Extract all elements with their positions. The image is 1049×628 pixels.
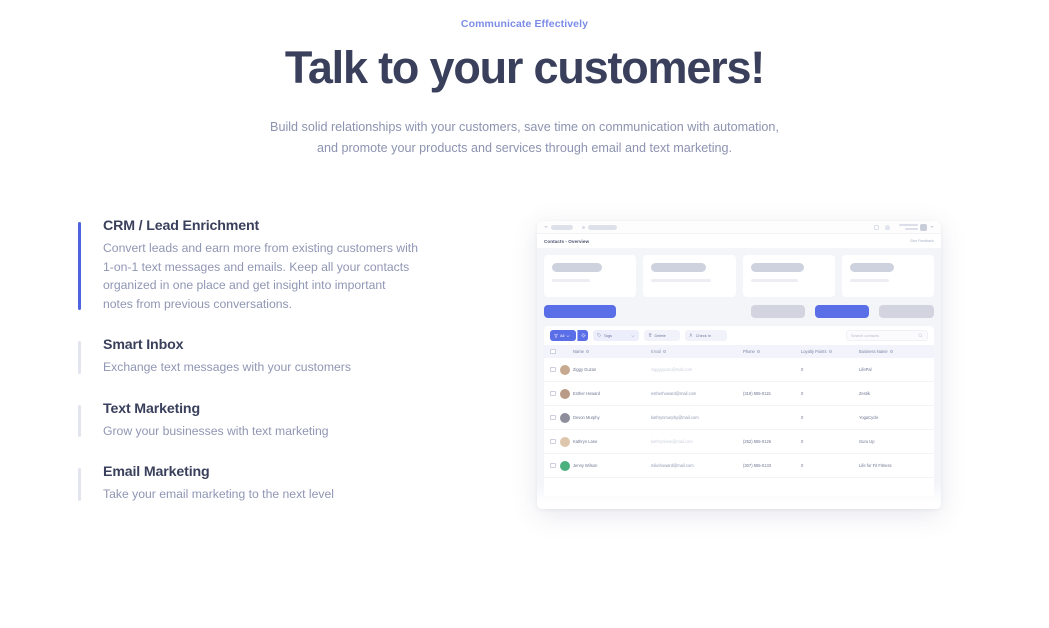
cell-email: kathrynlane@mail.com bbox=[651, 439, 743, 444]
cell-phone: (252) 555-0126 bbox=[743, 439, 801, 444]
sort-icon bbox=[663, 350, 666, 353]
row-checkbox[interactable] bbox=[550, 367, 556, 373]
feature-list: CRM / Lead Enrichment Convert leads and … bbox=[78, 208, 478, 528]
table-row[interactable]: Kathryn Lane kathrynlane@mail.com (252) … bbox=[544, 430, 934, 454]
feature-item-text-marketing[interactable]: Text Marketing Grow your businesses with… bbox=[78, 401, 478, 441]
bell-icon[interactable] bbox=[885, 225, 890, 230]
row-checkbox[interactable] bbox=[550, 391, 556, 397]
stat-label-placeholder bbox=[751, 279, 798, 282]
avatar bbox=[560, 461, 570, 471]
user-name-placeholder bbox=[899, 224, 918, 230]
cell-name: Devon Murphy bbox=[573, 415, 651, 420]
cell-email: estherhoward@mail.com bbox=[651, 391, 743, 396]
feature-description: Grow your businesses with text marketing bbox=[103, 422, 418, 441]
select-all-checkbox[interactable] bbox=[550, 349, 556, 355]
user-check-icon bbox=[689, 333, 693, 337]
feature-title: Text Marketing bbox=[103, 401, 478, 417]
feature-title: CRM / Lead Enrichment bbox=[103, 218, 478, 234]
hero-subtitle: Build solid relationships with your cust… bbox=[0, 117, 1049, 158]
stat-value-placeholder bbox=[651, 263, 706, 272]
chevron-down-icon bbox=[631, 334, 635, 338]
action-chip-row bbox=[544, 305, 934, 318]
cell-email: kathrynmurphy@mail.com bbox=[651, 415, 743, 420]
nav-pill[interactable] bbox=[551, 225, 573, 230]
delete-label: Delete bbox=[655, 333, 666, 338]
content-row: CRM / Lead Enrichment Convert leads and … bbox=[0, 208, 1049, 528]
feature-title: Smart Inbox bbox=[103, 337, 478, 353]
avatar bbox=[560, 365, 570, 375]
feature-title: Email Marketing bbox=[103, 464, 478, 480]
cell-email: mikehoward@mail.com bbox=[651, 463, 743, 468]
cell-loyalty-points: 0 bbox=[801, 439, 859, 444]
stat-card-row bbox=[544, 255, 934, 297]
chevron-down-icon bbox=[544, 226, 548, 228]
app-body: All bbox=[537, 248, 941, 509]
column-header-loyalty-points[interactable]: Loyalty Points bbox=[801, 349, 859, 354]
column-header-email[interactable]: Email bbox=[651, 349, 743, 354]
stat-value-placeholder bbox=[552, 263, 602, 272]
sort-icon bbox=[890, 350, 893, 353]
hero-eyebrow: Communicate Effectively bbox=[0, 18, 1049, 30]
chevron-down-icon bbox=[930, 226, 934, 228]
cell-business-name: Guru Up bbox=[859, 439, 928, 444]
column-header-phone[interactable]: Phone bbox=[743, 349, 801, 354]
sort-icon bbox=[757, 350, 760, 353]
cell-loyalty-points: 0 bbox=[801, 367, 859, 372]
cell-business-name: LifePal bbox=[859, 367, 928, 372]
stat-label-placeholder bbox=[850, 279, 890, 282]
gear-icon bbox=[581, 333, 586, 338]
cell-business-name: Life for Fit Fitness bbox=[859, 463, 928, 468]
nav-pill-secondary[interactable] bbox=[588, 225, 617, 230]
feature-description: Convert leads and earn more from existin… bbox=[103, 239, 418, 313]
delete-button[interactable]: Delete bbox=[644, 330, 680, 341]
table-row[interactable]: Ziggy Guzan ziggyguzan@mail.com 0 LifePa… bbox=[544, 358, 934, 382]
cell-business-name: Zestik bbox=[859, 391, 928, 396]
nav-dot-icon bbox=[582, 226, 585, 229]
table-row[interactable]: Esther Howard estherhoward@mail.com (319… bbox=[544, 382, 934, 406]
sort-icon bbox=[586, 350, 589, 353]
filter-all-label: All bbox=[560, 333, 564, 338]
stat-card[interactable] bbox=[544, 255, 636, 297]
feature-item-email-marketing[interactable]: Email Marketing Take your email marketin… bbox=[78, 464, 478, 504]
page-subheader: Contacts - Overview Give Feedback bbox=[537, 234, 941, 248]
cell-email: ziggyguzan@mail.com bbox=[651, 367, 743, 372]
check-in-label: Check In bbox=[696, 333, 711, 338]
avatar bbox=[920, 224, 927, 231]
stat-value-placeholder bbox=[850, 263, 894, 272]
trash-icon bbox=[648, 333, 652, 337]
hero-subtitle-line-2: and promote your products and services t… bbox=[0, 138, 1049, 158]
give-feedback-link[interactable]: Give Feedback bbox=[910, 239, 934, 243]
row-checkbox[interactable] bbox=[550, 415, 556, 421]
user-menu[interactable] bbox=[899, 224, 934, 231]
tag-icon bbox=[597, 333, 601, 337]
cell-business-name: YogaCycle bbox=[859, 415, 928, 420]
app-preview: Contacts - Overview Give Feedback bbox=[537, 208, 941, 509]
feature-item-smart-inbox[interactable]: Smart Inbox Exchange text messages with … bbox=[78, 337, 478, 377]
primary-action-chip[interactable] bbox=[815, 305, 869, 318]
filter-settings-button[interactable] bbox=[577, 330, 588, 341]
tags-label: Tags bbox=[604, 333, 612, 338]
secondary-action-chip[interactable] bbox=[879, 305, 934, 318]
table-toolbar: All bbox=[544, 326, 934, 345]
avatar bbox=[560, 437, 570, 447]
cell-loyalty-points: 0 bbox=[801, 391, 859, 396]
cell-loyalty-points: 0 bbox=[801, 415, 859, 420]
landing-page: Communicate Effectively Talk to your cus… bbox=[0, 0, 1049, 628]
column-header-business-name[interactable]: Business Name bbox=[859, 349, 928, 354]
feature-description: Take your email marketing to the next le… bbox=[103, 485, 418, 504]
stat-label-placeholder bbox=[552, 279, 590, 282]
cell-phone: (319) 555-0115 bbox=[743, 391, 801, 396]
app-window: Contacts - Overview Give Feedback bbox=[537, 221, 941, 509]
search-icon[interactable] bbox=[874, 225, 879, 230]
stat-value-placeholder bbox=[751, 263, 804, 272]
stat-card[interactable] bbox=[743, 255, 835, 297]
column-header-name[interactable]: Name bbox=[573, 349, 651, 354]
page-title: Talk to your customers! bbox=[0, 44, 1049, 91]
stat-card[interactable] bbox=[643, 255, 735, 297]
tags-button[interactable]: Tags bbox=[593, 330, 639, 341]
secondary-action-chip[interactable] bbox=[751, 305, 805, 318]
filter-all-button[interactable]: All bbox=[550, 330, 576, 341]
search-placeholder: Search contacts bbox=[851, 333, 879, 338]
filter-icon bbox=[554, 334, 558, 338]
search-icon bbox=[918, 333, 923, 338]
stat-label-placeholder bbox=[651, 279, 710, 282]
table-header-row: Name Email Phone bbox=[544, 345, 934, 358]
sort-icon bbox=[829, 350, 832, 353]
check-in-button[interactable]: Check In bbox=[685, 330, 727, 341]
feature-item-crm[interactable]: CRM / Lead Enrichment Convert leads and … bbox=[78, 218, 478, 313]
row-checkbox[interactable] bbox=[550, 439, 556, 445]
cell-name: Ziggy Guzan bbox=[573, 367, 651, 372]
avatar bbox=[560, 389, 570, 399]
avatar bbox=[560, 413, 570, 423]
app-topbar bbox=[537, 221, 941, 234]
cell-loyalty-points: 0 bbox=[801, 463, 859, 468]
search-contacts-input[interactable]: Search contacts bbox=[846, 330, 928, 341]
cell-name: Kathryn Lane bbox=[573, 439, 651, 444]
cell-name: Esther Howard bbox=[573, 391, 651, 396]
breadcrumb: Contacts - Overview bbox=[544, 239, 589, 244]
cell-phone: (307) 555-0133 bbox=[743, 463, 801, 468]
stat-card[interactable] bbox=[842, 255, 934, 297]
table-row[interactable]: Jenny Wilson mikehoward@mail.com (307) 5… bbox=[544, 454, 934, 478]
hero-section: Communicate Effectively Talk to your cus… bbox=[0, 0, 1049, 158]
row-checkbox[interactable] bbox=[550, 463, 556, 469]
primary-action-chip[interactable] bbox=[544, 305, 616, 318]
cell-name: Jenny Wilson bbox=[573, 463, 651, 468]
contacts-table-panel: All bbox=[544, 326, 934, 496]
chevron-down-icon bbox=[566, 334, 570, 338]
hero-subtitle-line-1: Build solid relationships with your cust… bbox=[0, 117, 1049, 137]
feature-description: Exchange text messages with your custome… bbox=[103, 358, 418, 377]
table-row[interactable]: Devon Murphy kathrynmurphy@mail.com 0 Yo… bbox=[544, 406, 934, 430]
